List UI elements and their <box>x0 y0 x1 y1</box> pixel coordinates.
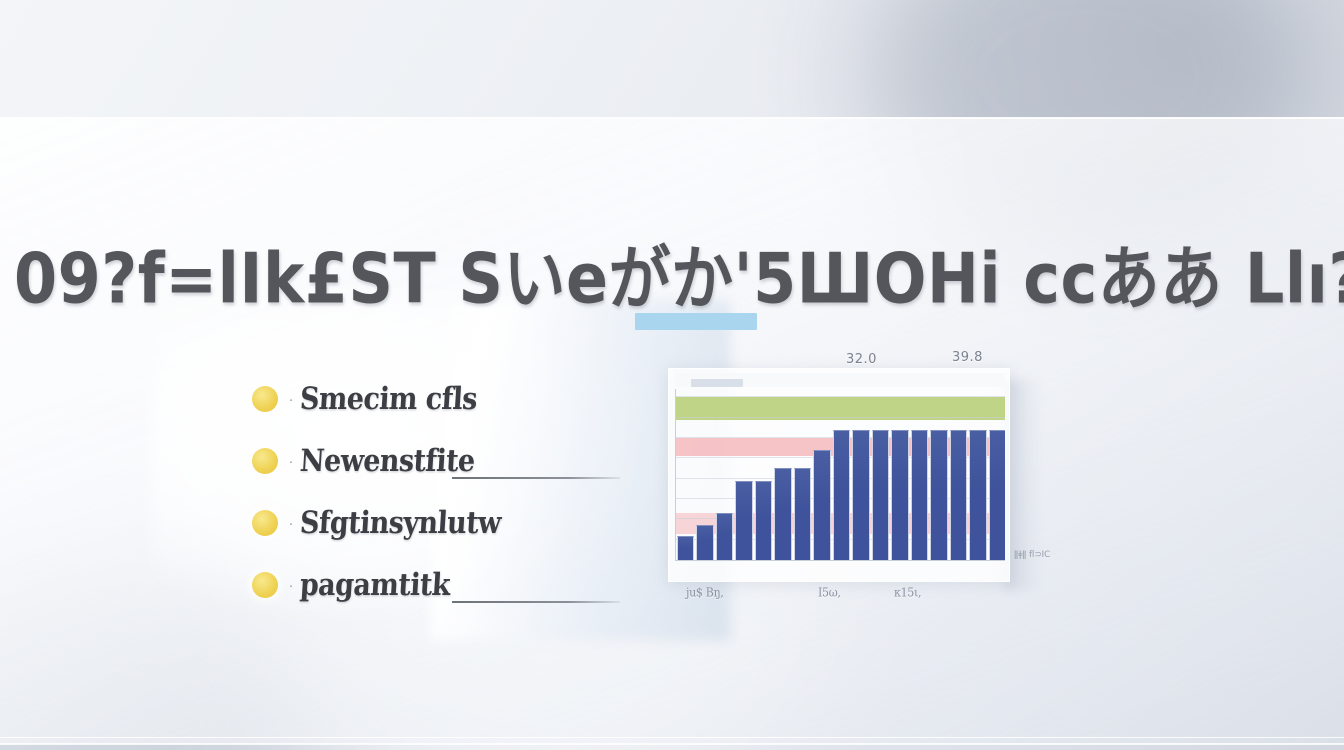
chart-header-strip <box>675 373 1005 387</box>
list-item-rule <box>452 601 620 603</box>
chart-bar[interactable] <box>755 389 772 560</box>
chart-bar[interactable] <box>696 389 713 560</box>
chart-bar[interactable] <box>911 389 928 560</box>
bottom-divider <box>0 743 1344 745</box>
chart-bar-fill <box>833 430 850 560</box>
chart-bar-fill <box>755 481 772 560</box>
chart-bar-fill <box>813 450 830 560</box>
chart-bar-fill <box>989 430 1006 560</box>
chart-footnote: ǁǂǁ fl⊃IC <box>1012 550 1052 561</box>
bullet-separator: · <box>282 453 300 470</box>
bullet-list: · Smecim cfls · Newenstfite · Sfgtinsynl… <box>252 368 652 616</box>
bullet-dot-icon <box>252 510 278 536</box>
chart-bar[interactable] <box>833 389 850 560</box>
bullet-dot-icon <box>252 448 278 474</box>
list-item[interactable]: · Newenstfite <box>252 430 652 492</box>
list-item[interactable]: · Smecim cfls <box>252 368 652 430</box>
chart-bar-fill <box>969 430 986 560</box>
chart-bar-fill <box>872 430 889 560</box>
list-item-label: Newenstfite <box>299 443 476 478</box>
chart-bar-fill <box>891 430 908 560</box>
bar-chart[interactable] <box>668 368 1010 582</box>
chart-bar[interactable] <box>716 389 733 560</box>
chart-tick-label: κ15ι, <box>894 585 921 599</box>
chart-bar-fill <box>716 513 733 560</box>
list-item[interactable]: · pagamtitk <box>252 554 652 616</box>
chart-bar[interactable] <box>794 389 811 560</box>
chart-bar[interactable] <box>950 389 967 560</box>
chart-bar[interactable] <box>813 389 830 560</box>
chart-bar[interactable] <box>930 389 947 560</box>
chart-bar[interactable] <box>735 389 752 560</box>
chart-tick-label: ju$ Bŋ, <box>686 585 724 599</box>
title-accent-bar <box>635 313 757 330</box>
chart-bar-fill <box>677 536 694 560</box>
chart-bar-fill <box>950 430 967 560</box>
chart-bar-fill <box>794 468 811 560</box>
chart-bar-fill <box>852 430 869 560</box>
chart-bar[interactable] <box>677 389 694 560</box>
chart-bar-fill <box>911 430 928 560</box>
chart-bar[interactable] <box>891 389 908 560</box>
chart-header-tag <box>691 379 743 387</box>
list-item-label: Sfgtinsynlutw <box>299 505 502 540</box>
list-item[interactable]: · Sfgtinsynlutw <box>252 492 652 554</box>
bullet-separator: · <box>282 515 300 532</box>
chart-bar[interactable] <box>969 389 986 560</box>
chart-bar-fill <box>930 430 947 560</box>
page-title: 09?f=lIk£ST Sいeがか'5ШOHi ccああ Llı?2E Ŀ|?ĝ… <box>14 222 1314 323</box>
list-item-rule <box>452 477 620 479</box>
bullet-dot-icon <box>252 386 278 412</box>
chart-plot-area <box>675 389 1005 561</box>
chart-bar-fill <box>735 481 752 560</box>
chart-bars <box>677 389 1005 560</box>
list-item-label: pagamtitk <box>299 567 451 602</box>
chart-tick-label: I5ω, <box>818 585 841 599</box>
chart-bar[interactable] <box>852 389 869 560</box>
presentation-slide: 09?f=lIk£ST Sいeがか'5ШOHi ccああ Llı?2E Ŀ|?ĝ… <box>0 0 1344 750</box>
chart-bar-fill <box>696 525 713 560</box>
list-item-label: Smecim cfls <box>299 381 478 416</box>
bullet-dot-icon <box>252 572 278 598</box>
chart-bar[interactable] <box>989 389 1006 560</box>
chart-bar[interactable] <box>872 389 889 560</box>
bullet-separator: · <box>282 391 300 408</box>
chart-value-label: 32.0 <box>846 352 877 367</box>
bullet-separator: · <box>282 577 300 594</box>
chart-value-label: 39.8 <box>952 350 983 365</box>
chart-bar-fill <box>774 468 791 560</box>
chart-bar[interactable] <box>774 389 791 560</box>
